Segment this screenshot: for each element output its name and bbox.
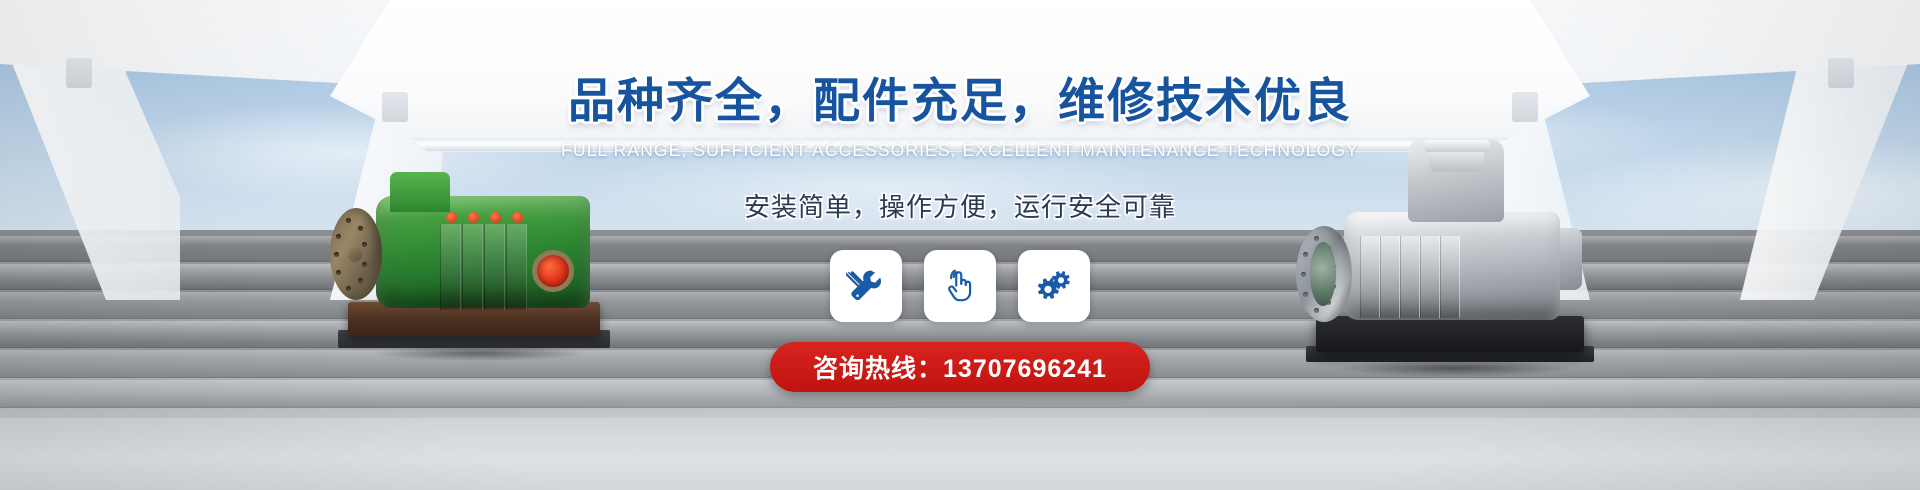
feature-icon-hand-click[interactable] <box>924 250 996 322</box>
hotline-cta-button[interactable]: 咨询热线：13707696241 <box>770 342 1150 392</box>
promo-banner: 品种齐全，配件充足，维修技术优良 FULL RANGE, SUFFICIENT … <box>0 0 1920 490</box>
subtitle-english: FULL RANGE, SUFFICIENT ACCESSORIES, EXCE… <box>561 140 1359 161</box>
subtitle-chinese: 安装简单，操作方便，运行安全可靠 <box>744 187 1176 224</box>
hotline-text: 咨询热线：13707696241 <box>813 349 1107 385</box>
feature-icon-gears[interactable] <box>1018 250 1090 322</box>
gears-icon <box>1034 266 1074 306</box>
feature-icon-tools[interactable] <box>830 250 902 322</box>
banner-content: 品种齐全，配件充足，维修技术优良 FULL RANGE, SUFFICIENT … <box>0 0 1920 490</box>
feature-icon-row <box>830 250 1090 322</box>
page-title: 品种齐全，配件充足，维修技术优良 <box>568 62 1352 131</box>
hand-click-icon <box>940 266 980 306</box>
tools-icon <box>846 266 886 306</box>
